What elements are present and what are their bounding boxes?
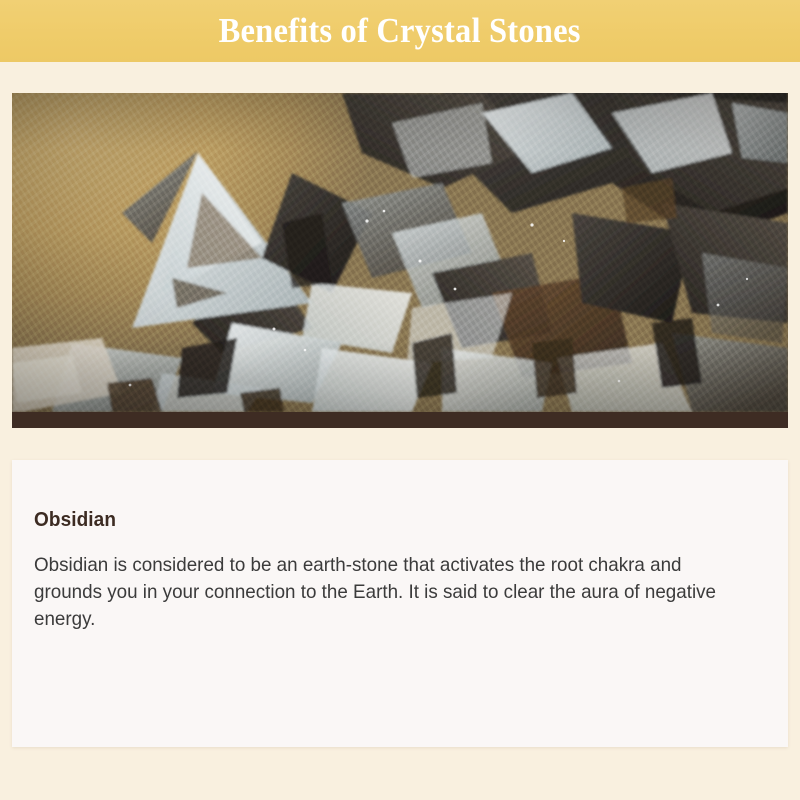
stone-info-card: Obsidian Obsidian is considered to be an…	[12, 460, 788, 747]
page-root: Benefits of Crystal Stones	[0, 0, 800, 800]
stone-description-text: Obsidian is considered to be an earth-st…	[34, 552, 740, 633]
hero-image-container	[12, 93, 788, 428]
photo-accent-bar	[12, 412, 788, 428]
page-title: Benefits of Crystal Stones	[219, 12, 581, 50]
stone-name-heading: Obsidian	[34, 508, 729, 532]
page-header: Benefits of Crystal Stones	[0, 0, 800, 62]
photo-vignette	[12, 93, 788, 412]
obsidian-crystal-photo	[12, 93, 788, 412]
stone-info-body: Obsidian Obsidian is considered to be an…	[12, 460, 788, 633]
